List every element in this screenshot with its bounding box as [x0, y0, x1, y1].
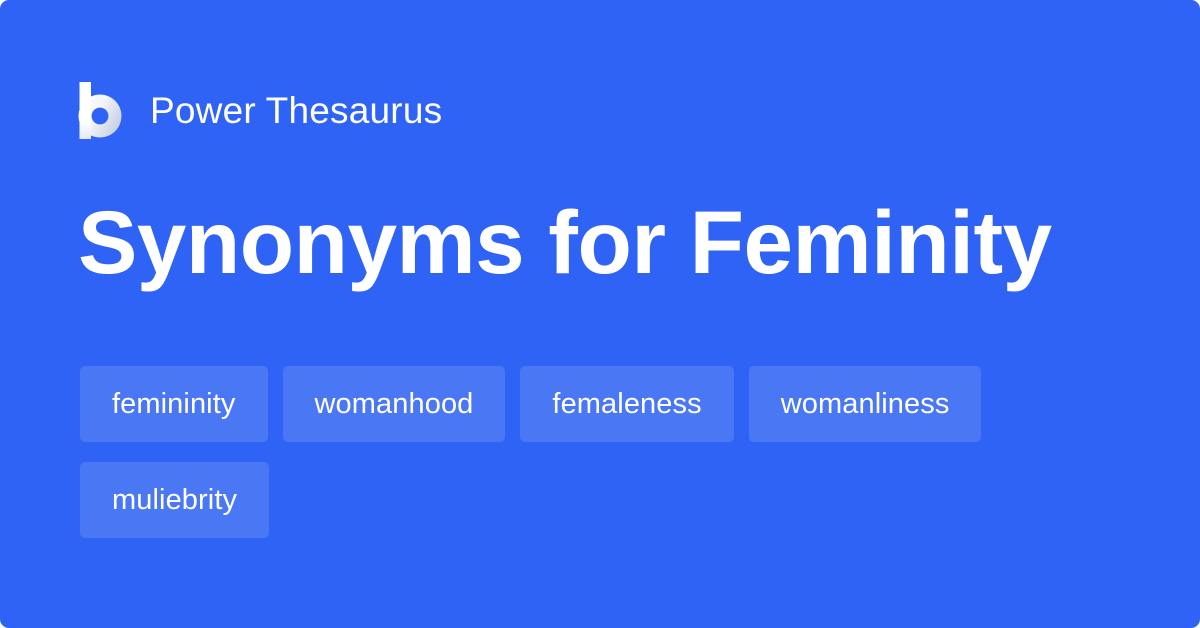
synonym-chip[interactable]: womanliness — [749, 366, 982, 442]
power-thesaurus-b-logo-icon — [78, 82, 124, 139]
page-title: Synonyms for Feminity — [78, 196, 1052, 289]
synonym-chip[interactable]: femininity — [80, 366, 268, 442]
synonym-list: femininitywomanhoodfemalenesswomanliness… — [80, 366, 1120, 538]
share-card: Power Thesaurus Synonyms for Feminity fe… — [0, 0, 1200, 628]
synonym-chip[interactable]: femaleness — [520, 366, 733, 442]
brand-header[interactable]: Power Thesaurus — [78, 82, 442, 139]
brand-name: Power Thesaurus — [150, 92, 442, 129]
synonym-chip[interactable]: muliebrity — [80, 462, 269, 538]
synonym-chip[interactable]: womanhood — [283, 366, 506, 442]
